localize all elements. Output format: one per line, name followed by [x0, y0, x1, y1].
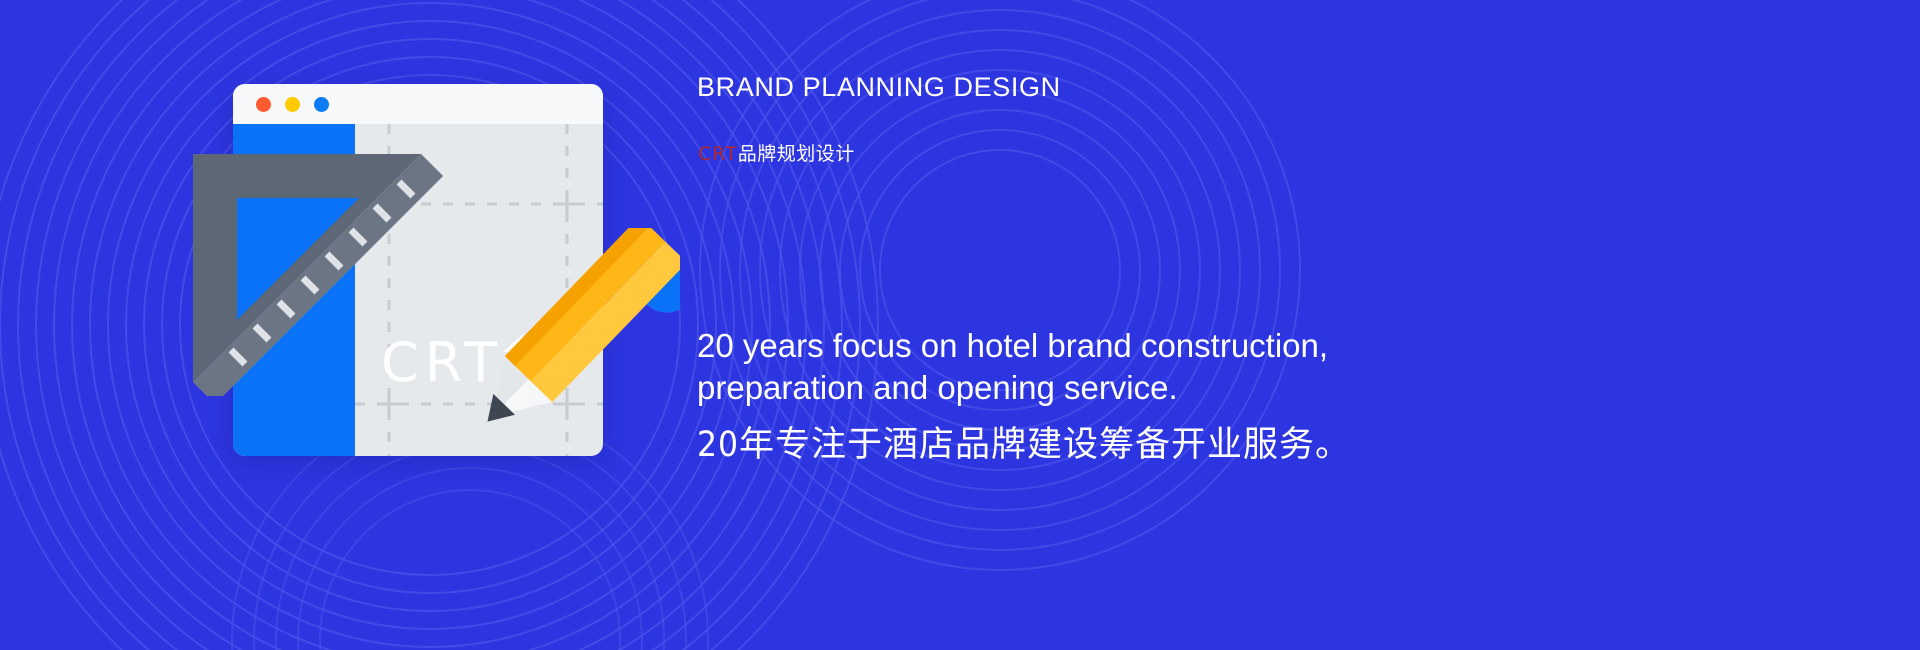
hero-banner: CRT: [0, 0, 1920, 650]
minimize-dot-icon: [285, 97, 300, 112]
brand-design-illustration: CRT: [185, 78, 685, 468]
maximize-dot-icon: [314, 97, 329, 112]
kicker-heading: BRAND PLANNING DESIGN: [697, 72, 1317, 103]
pencil-icon: [480, 228, 680, 438]
brand-subtitle: CRT品牌规划设计: [698, 139, 855, 166]
triangle-ruler-icon: [185, 146, 485, 396]
tagline-english: 20 years focus on hotel brand constructi…: [697, 325, 1457, 409]
close-dot-icon: [256, 97, 271, 112]
tagline-chinese: 20年专注于酒店品牌建设筹备开业服务。: [697, 423, 1457, 468]
tagline: 20 years focus on hotel brand constructi…: [697, 325, 1457, 468]
brand-subtitle-mark: CRT: [698, 143, 738, 165]
copy-block: BRAND PLANNING DESIGN CRT品牌规划设计 20 years…: [697, 0, 1847, 650]
brand-subtitle-text: 品牌规划设计: [738, 143, 855, 165]
